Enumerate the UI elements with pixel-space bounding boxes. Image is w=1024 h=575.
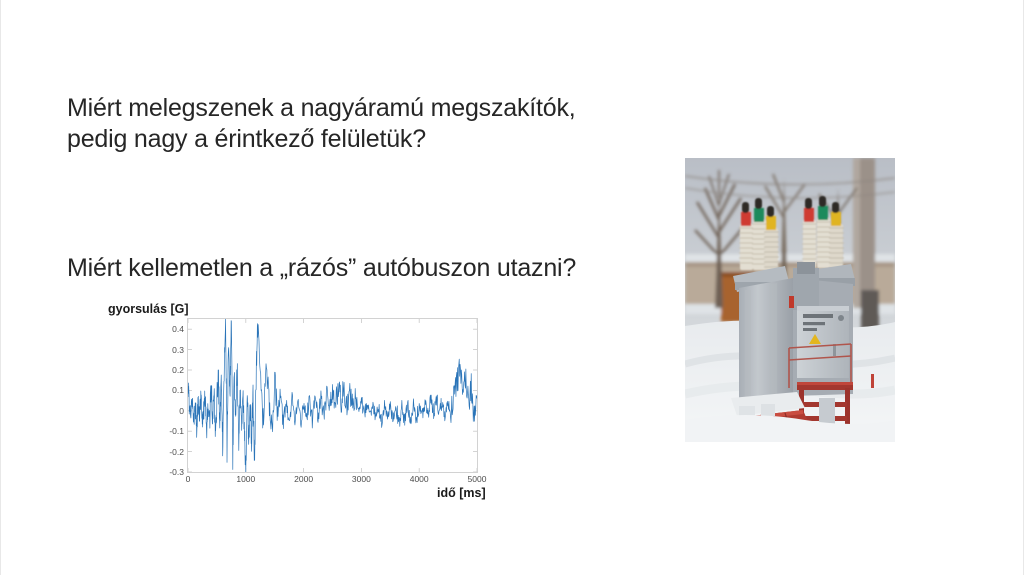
- presentation-slide: Miért melegszenek a nagyáramú megszakító…: [0, 0, 1024, 575]
- chart-y-tick: 0.2: [172, 365, 184, 375]
- chart-x-tick: 2000: [294, 474, 313, 484]
- chart-y-tick: 0.1: [172, 385, 184, 395]
- acceleration-chart: gyorsulás [G] 0.40.30.20.10-0.1-0.2-0.3 …: [105, 302, 515, 510]
- chart-x-tick: 5000: [468, 474, 487, 484]
- chart-x-tick: 4000: [410, 474, 429, 484]
- chart-y-tick: 0.4: [172, 324, 184, 334]
- chart-y-tick: -0.1: [169, 426, 184, 436]
- chart-x-tick: 1000: [236, 474, 255, 484]
- chart-x-axis-label: idő [ms]: [437, 486, 486, 500]
- question-text-bus-vibration: Miért kellemetlen a „rázós” autóbuszon u…: [67, 253, 677, 284]
- chart-x-tick: 0: [186, 474, 191, 484]
- chart-plot-area: 0.40.30.20.10-0.1-0.2-0.3 01000200030004…: [187, 318, 478, 473]
- chart-y-axis-label: gyorsulás [G]: [108, 302, 189, 316]
- question-text-heating: Miért melegszenek a nagyáramú megszakító…: [67, 93, 667, 155]
- chart-x-tick: 3000: [352, 474, 371, 484]
- chart-signal-svg: [188, 319, 477, 472]
- circuit-breaker-photo-svg: [685, 158, 895, 442]
- chart-y-tick: -0.2: [169, 447, 184, 457]
- circuit-breaker-photo: [685, 158, 895, 442]
- chart-y-tick: 0.3: [172, 345, 184, 355]
- chart-y-tick: -0.3: [169, 467, 184, 477]
- chart-y-tick: 0: [179, 406, 184, 416]
- chart-series-line: [188, 319, 477, 472]
